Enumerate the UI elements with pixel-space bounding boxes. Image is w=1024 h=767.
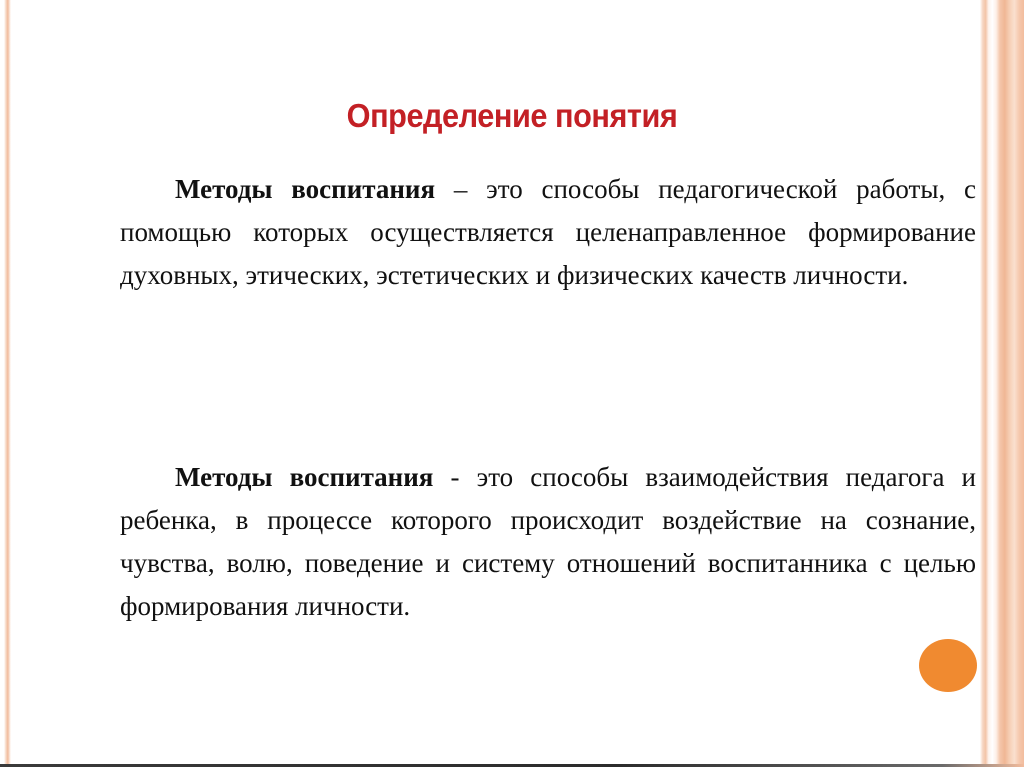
page-title: Определение понятия	[36, 96, 988, 136]
paragraph-text: Методы воспитания – это способы педагоги…	[120, 168, 976, 297]
slide-canvas: Определение понятия Методы воспитания – …	[0, 0, 1024, 767]
paragraph-text: Методы воспитания - это способы взаимоде…	[120, 456, 976, 628]
orange-circle-decoration	[919, 639, 977, 692]
paragraph-separator: -	[433, 462, 476, 492]
paragraph-lead-term: Методы воспитания	[175, 174, 435, 204]
paragraph-separator: –	[435, 174, 486, 204]
paragraph-lead-term: Методы воспитания	[175, 462, 433, 492]
left-edge-stripe	[4, 0, 11, 767]
definition-paragraph-1: Методы воспитания – это способы педагоги…	[120, 168, 976, 297]
definition-paragraph-2: Методы воспитания - это способы взаимоде…	[120, 456, 976, 628]
